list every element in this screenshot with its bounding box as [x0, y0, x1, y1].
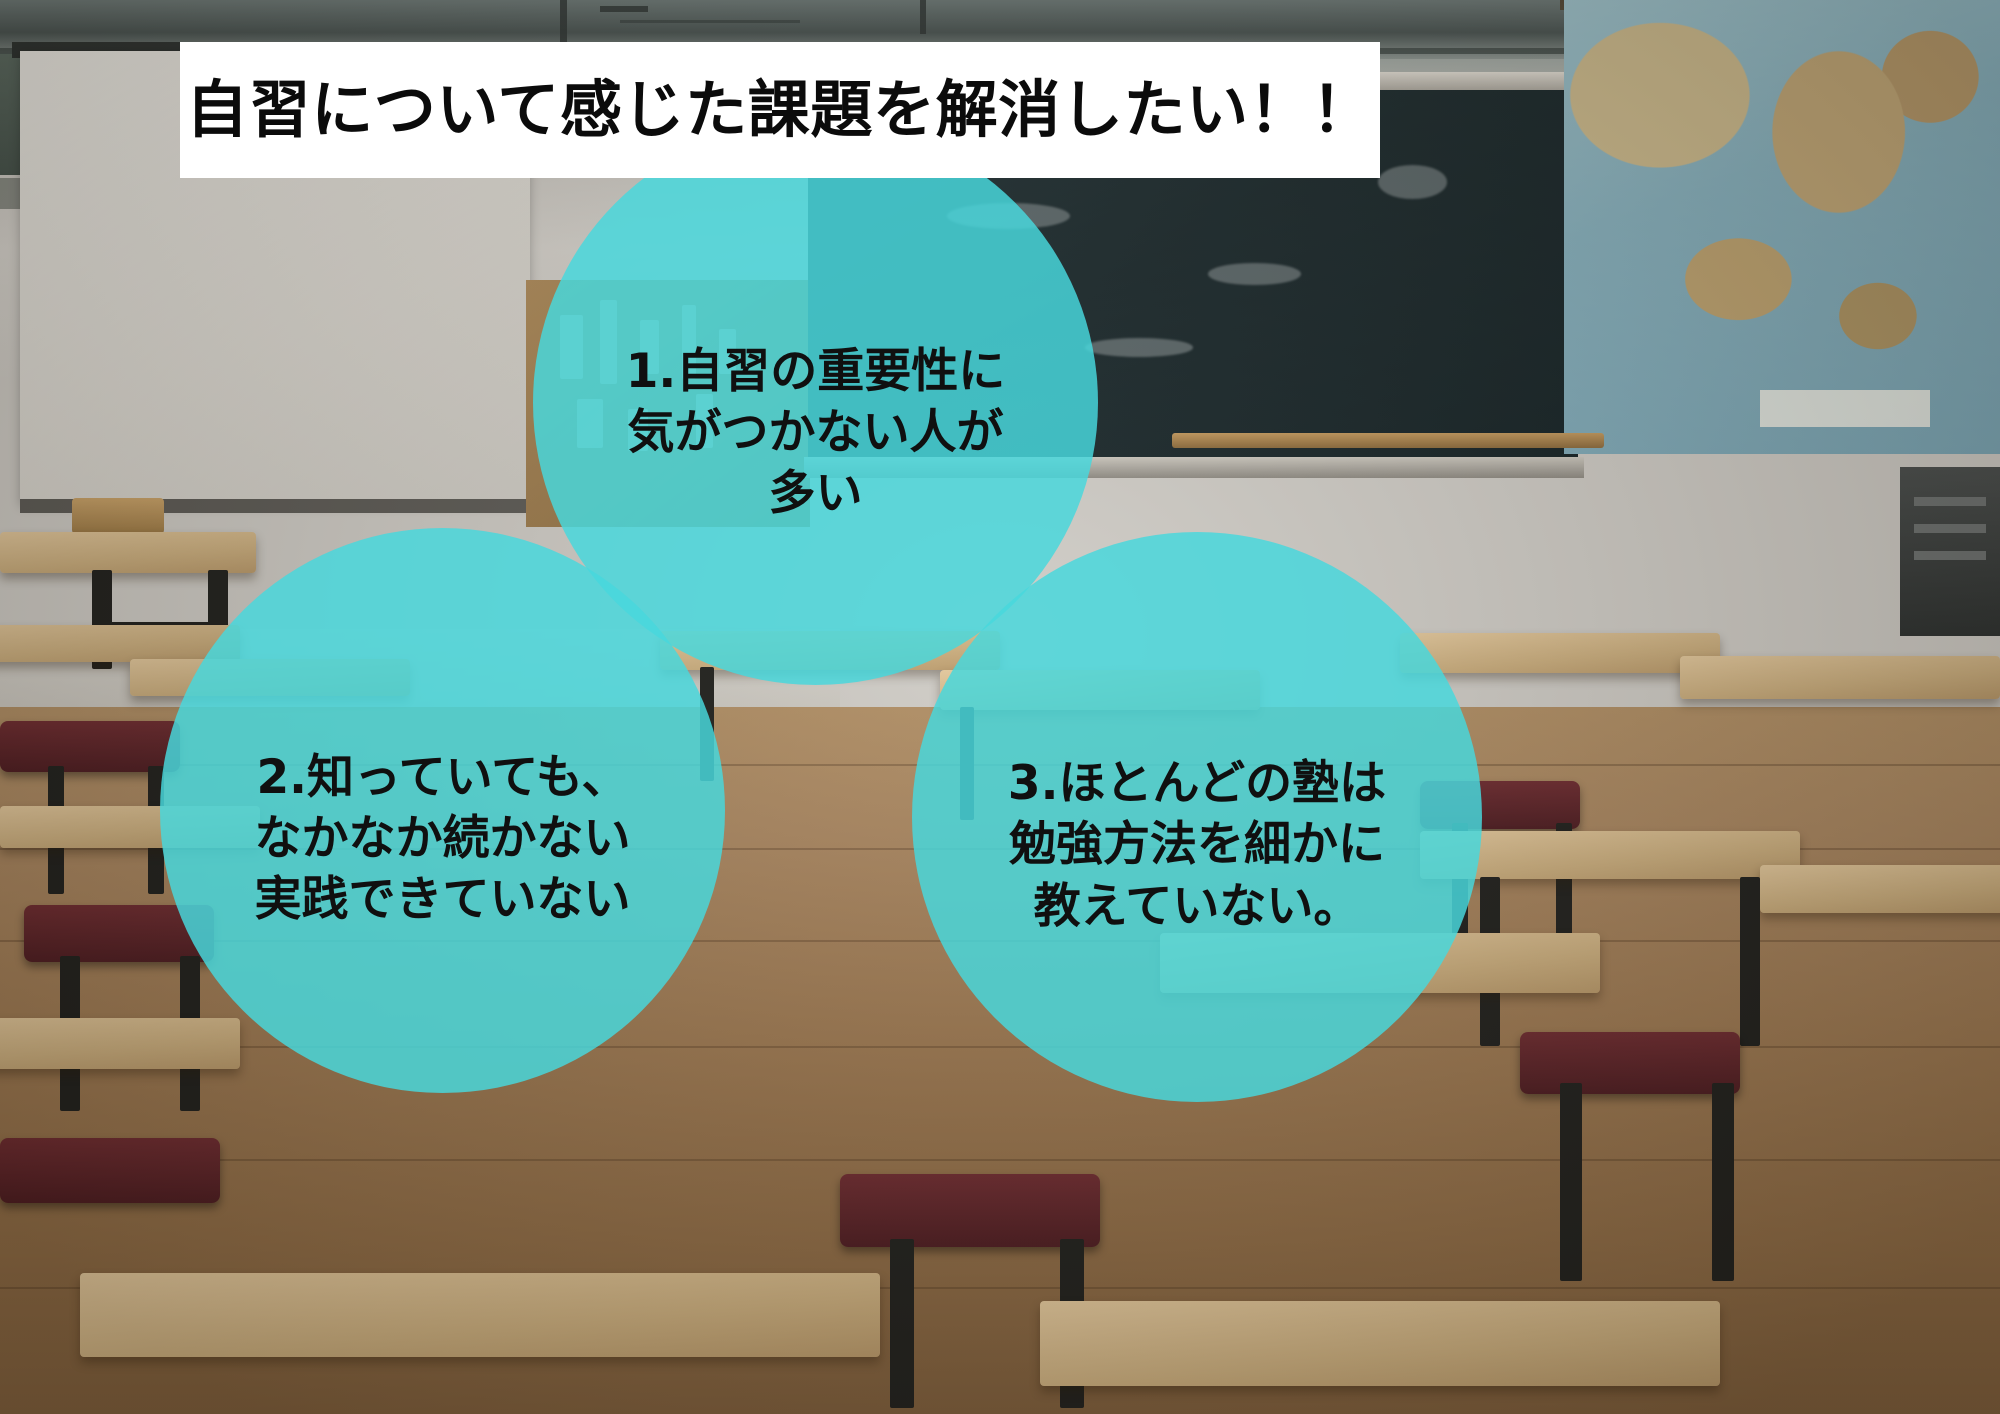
problem-circle-2-text: 2.知っていても、 なかなか続かない 実践できていない [229, 747, 657, 930]
problem-circle-1-text: 1.自習の重要性に 気がつかない人が 多い [600, 341, 1032, 524]
title-banner: 自習について感じた課題を解消したい！！ [180, 42, 1380, 178]
problem-circle-3[interactable]: 3.ほとんどの塾は 勉強方法を細かに 教えていない。 [912, 532, 1482, 1102]
problem-circle-3-text: 3.ほとんどの塾は 勉強方法を細かに 教えていない。 [982, 753, 1412, 936]
slide-canvas: 自習について感じた課題を解消したい！！ 1.自習の重要性に 気がつかない人が 多… [0, 0, 2000, 1414]
slide-title: 自習について感じた課題を解消したい！！ [186, 79, 1374, 141]
problem-circle-2[interactable]: 2.知っていても、 なかなか続かない 実践できていない [160, 528, 725, 1093]
